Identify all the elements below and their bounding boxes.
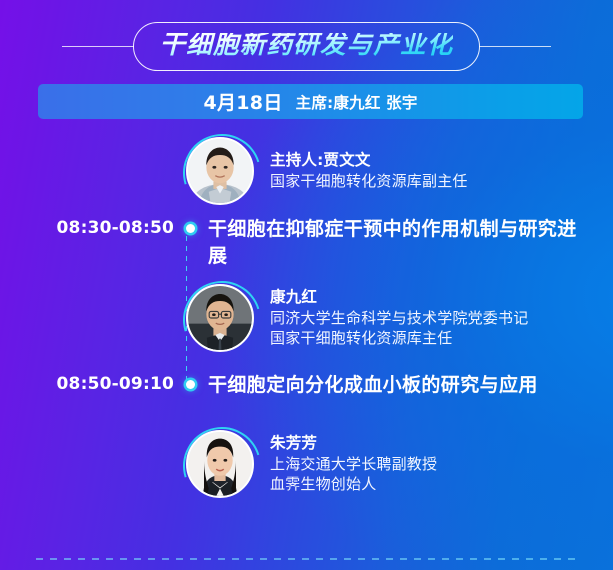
session-2-time: 08:50-09:10	[38, 372, 174, 397]
avatar-photo-speaker-2	[186, 430, 254, 498]
male-portrait-photo	[188, 286, 252, 350]
avatar-photo-speaker-1	[186, 284, 254, 352]
session-1-title: 干细胞在抑郁症干预中的作用机制与研究进展	[208, 216, 613, 270]
header-title-row: 干细胞新药研发与产业化	[0, 21, 613, 71]
session-chair: 主席:康九红 张宇	[296, 91, 418, 113]
speaker-1-name: 康九红	[270, 287, 528, 308]
avatar	[186, 430, 254, 498]
title-decor-line-left	[62, 46, 134, 47]
title-decor-line-right	[479, 46, 551, 47]
agenda-speaker-block-2: 朱芳芳 上海交通大学长聘副教授 血霁生物创始人	[0, 418, 613, 510]
date-chair-bar: 4月18日 主席:康九红 张宇	[38, 84, 583, 119]
session-1-time: 08:30-08:50	[38, 216, 174, 241]
speaker-1-affiliation-0: 同济大学生命科学与技术学院党委书记	[270, 309, 528, 329]
bottom-dashed-divider	[36, 558, 577, 560]
conference-agenda-poster: 干细胞新药研发与产业化 4月18日 主席:康九红 张宇	[0, 0, 613, 570]
avatar	[186, 137, 254, 205]
agenda-session-1[interactable]: 08:30-08:50 干细胞在抑郁症干预中的作用机制与研究进展	[0, 216, 613, 270]
avatar	[186, 284, 254, 352]
session-date: 4月18日	[203, 88, 282, 115]
male-portrait-photo	[188, 139, 252, 203]
speaker-2-affiliation-0: 上海交通大学长聘副教授	[270, 455, 437, 475]
speaker-2-name: 朱芳芳	[270, 433, 437, 454]
speaker-1-affiliation-1: 国家干细胞转化资源库主任	[270, 329, 528, 349]
timeline-dot-icon	[186, 224, 195, 233]
host-affiliation-0: 国家干细胞转化资源库副主任	[270, 172, 468, 192]
host-name: 主持人:贾文文	[270, 150, 468, 171]
session-2-title: 干细胞定向分化成血小板的研究与应用	[208, 372, 613, 399]
agenda-list: 主持人:贾文文 国家干细胞转化资源库副主任 08:30-08:50 干细胞在抑郁…	[0, 132, 613, 510]
agenda-host-block: 主持人:贾文文 国家干细胞转化资源库副主任	[0, 132, 613, 210]
avatar-photo-host	[186, 137, 254, 205]
speaker-2-affiliation-1: 血霁生物创始人	[270, 475, 437, 495]
agenda-session-2[interactable]: 08:50-09:10 干细胞定向分化成血小板的研究与应用	[0, 372, 613, 412]
female-portrait-photo	[188, 432, 252, 496]
agenda-speaker-block-1: 康九红 同济大学生命科学与技术学院党委书记 国家干细胞转化资源库主任	[0, 272, 613, 364]
timeline-dot-icon	[186, 380, 195, 389]
page-title: 干细胞新药研发与产业化	[160, 33, 454, 59]
title-pill: 干细胞新药研发与产业化	[133, 22, 481, 71]
